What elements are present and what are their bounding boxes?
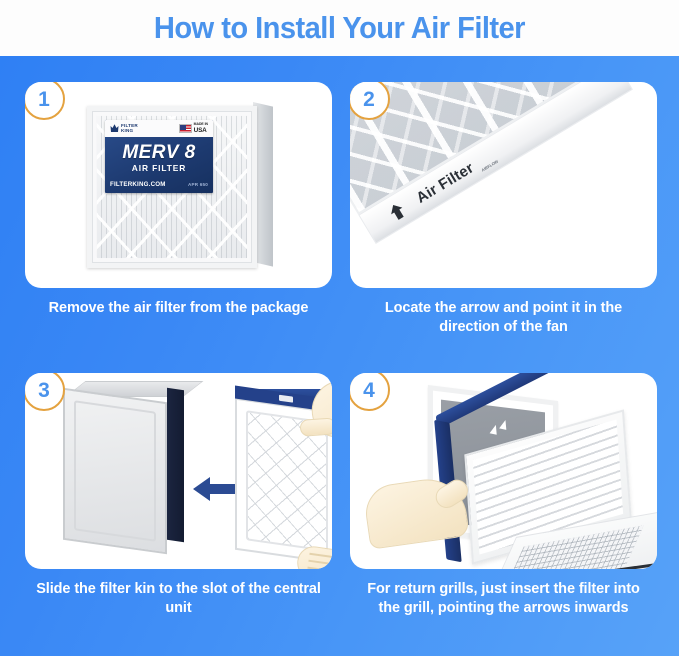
airflow-arrow-icon [386, 200, 408, 223]
step-1-image: FILTER KING MADE IN USA [25, 82, 332, 288]
brand-text: FILTER KING [121, 124, 138, 134]
airflow-arrows-icon [489, 415, 510, 443]
step-2-card: 2 Air Filter [350, 82, 657, 288]
crown-icon [110, 123, 119, 134]
central-unit-slot [63, 389, 191, 549]
step-3-image [25, 373, 332, 569]
air-filter-corner-photo: Air Filter AIRFLOW [350, 82, 657, 288]
made-in-usa-text: MADE IN USA [194, 123, 208, 134]
step-1-caption: Remove the air filter from the package [25, 299, 332, 318]
step-2-image: Air Filter AIRFLOW [350, 82, 657, 288]
step-1-card: 1 [25, 82, 332, 288]
website-text: FILTERKING.COM [110, 181, 166, 188]
filter-king-logo: FILTER KING [110, 123, 138, 134]
steps-board: 1 [0, 56, 679, 656]
unit-slot-opening [167, 388, 184, 542]
steps-grid: 1 [0, 56, 679, 656]
apr-rating-text: APR 650 [188, 182, 208, 187]
step-3-caption: Slide the filter kin to the slot of the … [25, 580, 332, 618]
country-label: USA [194, 127, 208, 134]
page-title: How to Install Your Air Filter [154, 10, 525, 46]
unit-front-face [63, 388, 167, 555]
label-subtitle-text: AIR FILTER [105, 163, 213, 173]
edge-airflow-subtext: AIRFLOW [480, 159, 499, 173]
filter-front-face: FILTER KING MADE IN USA [87, 106, 257, 268]
label-footer-strip: FILTERKING.COM APR 650 [110, 181, 208, 188]
made-in-usa-mark: MADE IN USA [179, 123, 208, 134]
step-panel-2: 2 Air Filter [350, 82, 657, 367]
step-panel-4: 4 [350, 373, 657, 650]
step-2-caption: Locate the arrow and point it in the dir… [350, 299, 657, 337]
step-3-card: 3 [25, 373, 332, 569]
slide-direction-arrow-icon [193, 474, 239, 509]
us-flag-icon [179, 124, 192, 133]
merv-rating-text: MERV 8 [105, 142, 213, 164]
step-4-caption: For return grills, just insert the filte… [350, 580, 657, 618]
made-in-label: MADE IN [194, 122, 208, 126]
brand-line-2: KING [121, 128, 133, 133]
label-header-strip: FILTER KING MADE IN USA [105, 120, 213, 137]
step-4-card: 4 [350, 373, 657, 569]
air-filter-product-photo: FILTER KING MADE IN USA [87, 96, 273, 274]
step-panel-1: 1 [25, 82, 332, 367]
filter-product-label: FILTER KING MADE IN USA [105, 120, 213, 193]
step-panel-3: 3 [25, 373, 332, 650]
header-band: How to Install Your Air Filter [0, 0, 679, 56]
step-4-image [350, 373, 657, 569]
